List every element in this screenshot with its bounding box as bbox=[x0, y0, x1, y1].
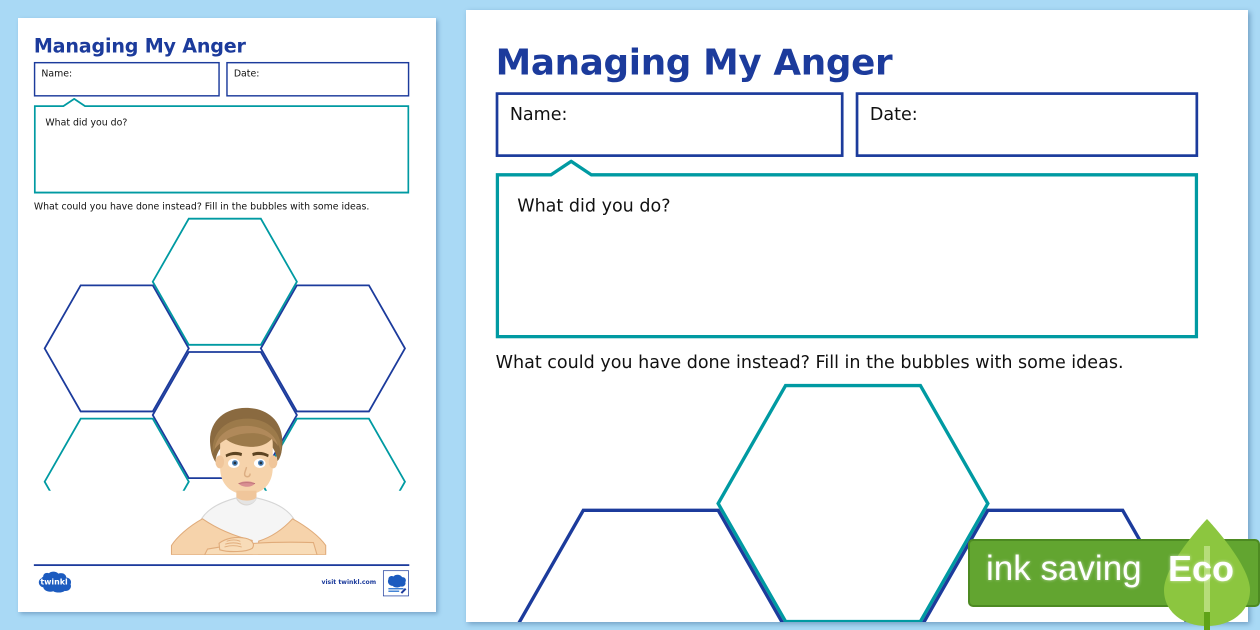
boy-illustration bbox=[162, 400, 339, 555]
answer-field-label: What did you do? bbox=[517, 196, 670, 216]
answer-field[interactable]: What did you do? bbox=[34, 98, 409, 193]
name-field[interactable]: Name: bbox=[496, 92, 844, 157]
date-field-label: Date: bbox=[234, 68, 260, 79]
name-field-label: Name: bbox=[510, 104, 568, 124]
boy-resting-head-on-arms-icon bbox=[162, 400, 339, 555]
twinkl-logo-icon: twinkl bbox=[35, 571, 81, 593]
speech-bubble-shape bbox=[496, 160, 1199, 339]
worksheet-thumbnail-preview[interactable]: Managing My Anger Name: Date: What did y… bbox=[18, 18, 436, 612]
eco-label: Eco bbox=[1168, 548, 1234, 590]
speech-bubble-shape bbox=[34, 98, 409, 193]
instruction-text: What could you have done instead? Fill i… bbox=[496, 352, 1124, 372]
worksheet-sheet-thumb: Managing My Anger Name: Date: What did y… bbox=[18, 18, 436, 612]
twinkl-cloud-badge-icon bbox=[383, 570, 410, 597]
page-title: Managing My Anger bbox=[34, 35, 246, 57]
footer-divider bbox=[34, 564, 409, 566]
page-title: Managing My Anger bbox=[496, 42, 893, 83]
ink-saving-eco-badge: ink saving Eco bbox=[968, 516, 1260, 630]
answer-field[interactable]: What did you do? bbox=[496, 160, 1199, 339]
name-field-label: Name: bbox=[41, 68, 72, 79]
twinkl-cloud-badge bbox=[383, 570, 410, 597]
instruction-text: What could you have done instead? Fill i… bbox=[34, 201, 370, 212]
answer-field-label: What did you do? bbox=[45, 117, 127, 128]
visit-url-text[interactable]: visit twinkl.com bbox=[321, 579, 376, 586]
date-field[interactable]: Date: bbox=[226, 62, 409, 97]
ink-saving-label: ink saving bbox=[986, 549, 1142, 589]
twinkl-logo[interactable]: twinkl bbox=[35, 571, 81, 593]
svg-text:twinkl: twinkl bbox=[40, 578, 68, 587]
screenshot-stage: Managing My Anger Name: Date: What did y… bbox=[0, 0, 1260, 630]
date-field[interactable]: Date: bbox=[856, 92, 1198, 157]
name-field[interactable]: Name: bbox=[34, 62, 220, 97]
date-field-label: Date: bbox=[870, 104, 918, 124]
